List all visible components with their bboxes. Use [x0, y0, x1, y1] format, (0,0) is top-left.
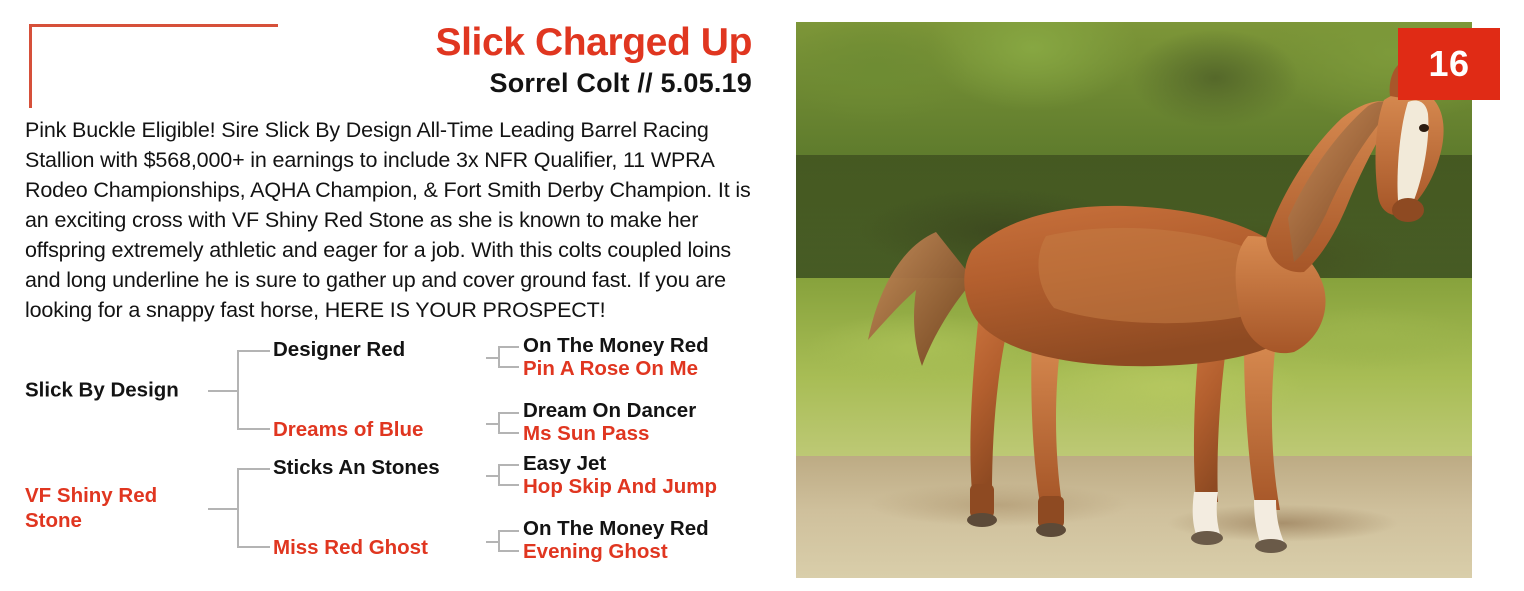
- pedigree-group-dam: VF Shiny Red Stone Sticks An Stones Miss…: [25, 452, 765, 564]
- pedigree-sire-gen2-0: Designer Red: [273, 338, 473, 362]
- pedigree-bracket-dam-gen3-0: [486, 464, 519, 486]
- pedigree-bracket-sire-gen3-0: [486, 346, 519, 368]
- pedigree-bracket-dam-gen3-1: [486, 530, 519, 552]
- pedigree-sire-gen2-1: Dreams of Blue: [273, 418, 473, 442]
- pedigree-dam-gen3-group-1: On The Money Red Evening Ghost: [523, 519, 773, 562]
- pedigree-dam-gen3-1-1: Evening Ghost: [523, 542, 773, 562]
- pedigree-bracket-sire: [208, 350, 270, 430]
- pedigree-sire-name: Slick By Design: [25, 378, 203, 403]
- description-text: Pink Buckle Eligible! Sire Slick By Desi…: [25, 115, 761, 325]
- pedigree-dam-gen3-0-0: Easy Jet: [523, 454, 773, 474]
- headline-block: Slick Charged Up Sorrel Colt // 5.05.19: [24, 22, 752, 99]
- pedigree-group-sire: Slick By Design Designer Red Dreams of B…: [25, 334, 765, 446]
- pedigree-dam-gen2-1: Miss Red Ghost: [273, 536, 473, 560]
- pedigree-dam-gen3-0-1: Hop Skip And Jump: [523, 477, 773, 497]
- horse-photo: [796, 22, 1472, 578]
- pedigree-sire-gen3-group-1: Dream On Dancer Ms Sun Pass: [523, 401, 773, 444]
- pedigree-sire-gen3-1-0: Dream On Dancer: [523, 401, 773, 421]
- pedigree-bracket-sire-gen3-1: [486, 412, 519, 434]
- pedigree-bracket-dam: [208, 468, 270, 548]
- pedigree-dam-gen3-1-0: On The Money Red: [523, 519, 773, 539]
- pedigree-sire-gen3-0-0: On The Money Red: [523, 336, 773, 356]
- pedigree-chart: Slick By Design Designer Red Dreams of B…: [25, 334, 765, 564]
- page-title: Slick Charged Up: [24, 22, 752, 64]
- pedigree-sire-gen3-0-1: Pin A Rose On Me: [523, 359, 773, 379]
- pedigree-sire-gen3-1-1: Ms Sun Pass: [523, 424, 773, 444]
- pedigree-dam-gen3-group-0: Easy Jet Hop Skip And Jump: [523, 454, 773, 497]
- pedigree-dam-gen2-0: Sticks An Stones: [273, 456, 473, 480]
- lot-number-badge: 16: [1398, 28, 1500, 100]
- lot-number-value: 16: [1428, 46, 1469, 82]
- horse-subtitle: Sorrel Colt // 5.05.19: [24, 68, 752, 99]
- horse-figure: [796, 22, 1472, 578]
- sale-catalog-page: Slick Charged Up Sorrel Colt // 5.05.19 …: [0, 0, 1524, 591]
- pedigree-dam-name: VF Shiny Red Stone: [25, 483, 203, 533]
- pedigree-sire-gen3-group-0: On The Money Red Pin A Rose On Me: [523, 336, 773, 379]
